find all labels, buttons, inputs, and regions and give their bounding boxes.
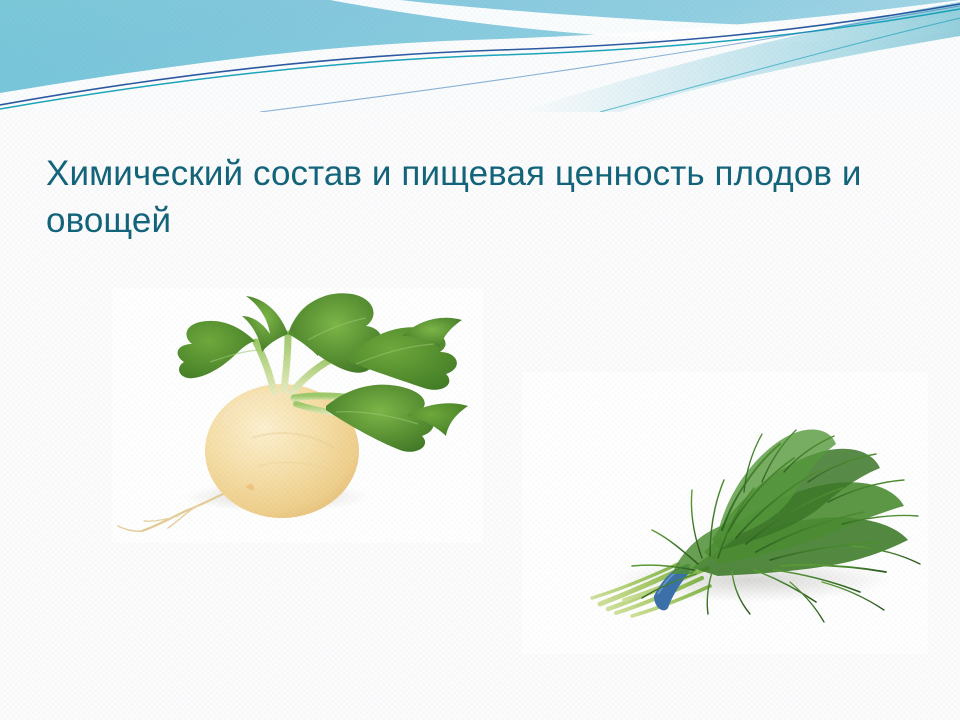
- header-wave-decoration: [0, 0, 960, 112]
- dill-photo[interactable]: Пучок укропа, перевязанный синей резинко…: [522, 372, 928, 654]
- presentation-slide: Химический состав и пищевая ценность пло…: [0, 0, 960, 720]
- turnip-photo[interactable]: Жёлтая репа с зелёной ботвой: [112, 288, 483, 543]
- slide-title: Химический состав и пищевая ценность пло…: [46, 151, 914, 245]
